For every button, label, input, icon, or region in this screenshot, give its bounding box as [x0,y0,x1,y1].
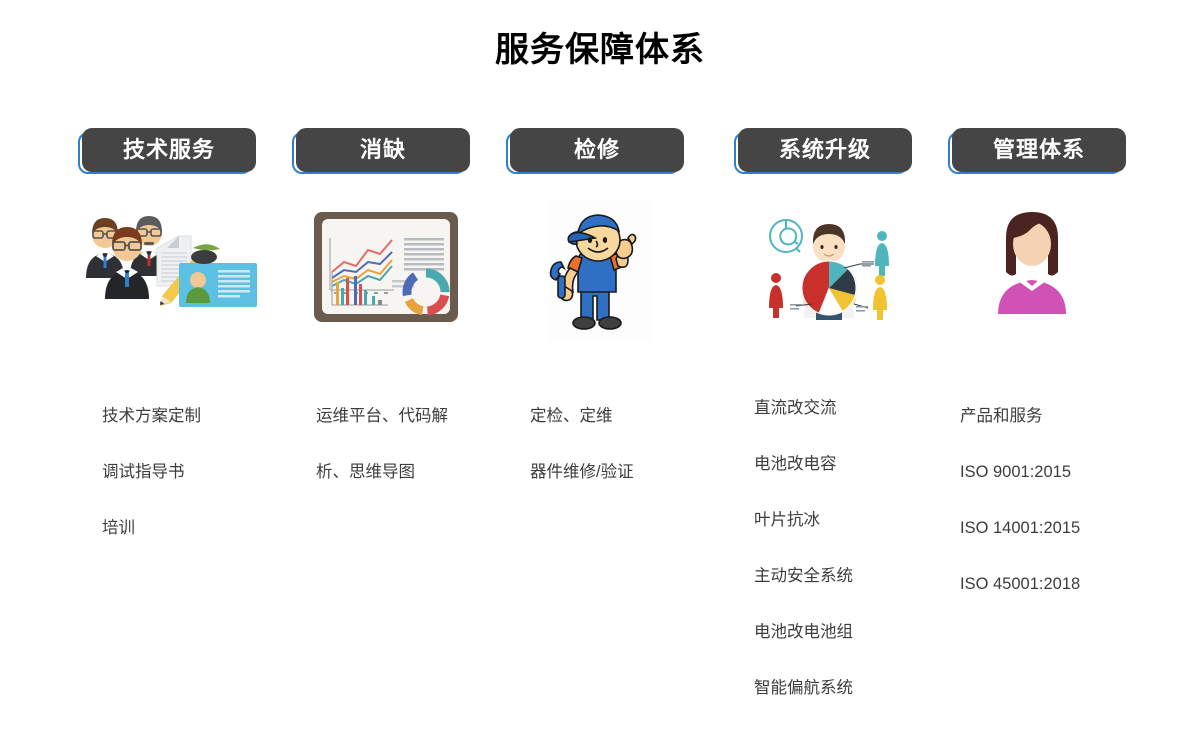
pill-body: 系统升级 [738,128,912,172]
description-line: 电池改电容 [754,450,954,478]
description-line: 调试指导书 [102,458,302,486]
description-line: 电池改电池组 [754,618,954,646]
pill-body: 技术服务 [82,128,256,172]
service-description-4: 直流改交流 电池改电容 叶片抗冰 主动安全系统 电池改电池组 智能偏航系统 [754,366,954,730]
pill-body: 消缺 [296,128,470,172]
business-team-and-id-card-illustration [78,200,268,340]
description-line: 定检、定维 [530,402,730,430]
description-line: 析、思维导图 [316,458,494,486]
description-line: 运维平台、代码解 [316,402,494,430]
description-line: 产品和服务 [960,402,1160,430]
woman-avatar-illustration [948,200,1138,340]
category-pill-2[interactable]: 消缺 [292,128,470,178]
description-line: ISO 9001:2015 [960,458,1160,486]
service-description-1: 技术方案定制 调试指导书 培训 [102,374,302,570]
description-line: 技术方案定制 [102,402,302,430]
category-pill-3[interactable]: 检修 [506,128,684,178]
service-description-2: 运维平台、代码解 析、思维导图 [316,374,494,514]
service-description-5: 产品和服务 ISO 9001:2015 ISO 14001:2015 ISO 4… [960,374,1160,626]
category-pill-label-2: 消缺 [360,128,406,172]
category-pill-5[interactable]: 管理体系 [948,128,1126,178]
category-pill-label-3: 检修 [574,128,620,172]
category-pill-label-1: 技术服务 [123,128,215,172]
category-pill-label-5: 管理体系 [993,128,1085,172]
man-with-pie-chart-illustration [734,200,924,340]
description-line: 培训 [102,514,302,542]
description-line: 器件维修/验证 [530,458,730,486]
category-pill-4[interactable]: 系统升级 [734,128,912,178]
category-pill-1[interactable]: 技术服务 [78,128,256,178]
pill-body: 管理体系 [952,128,1126,172]
service-column-2: 消缺 [292,128,482,178]
service-column-1: 技术服务 [78,128,268,178]
description-line: ISO 14001:2015 [960,514,1160,542]
description-line: 智能偏航系统 [754,674,954,702]
pill-body: 检修 [510,128,684,172]
page-title: 服务保障体系 [0,28,1200,72]
description-line: 直流改交流 [754,394,954,422]
analytics-dashboard-board-illustration [292,200,482,340]
service-column-3: 检修 [506,128,696,178]
service-column-4: 系统升级 [734,128,924,178]
service-column-5: 管理体系 产品和服务 ISO 9001 [948,128,1138,178]
description-line: 主动安全系统 [754,562,954,590]
description-line: 叶片抗冰 [754,506,954,534]
category-pill-label-4: 系统升级 [779,128,871,172]
description-line: ISO 45001:2018 [960,570,1160,598]
mechanic-worker-thumbs-up-illustration [506,200,696,340]
service-columns: 技术服务 [0,128,1200,568]
service-description-3: 定检、定维 器件维修/验证 [530,374,730,514]
